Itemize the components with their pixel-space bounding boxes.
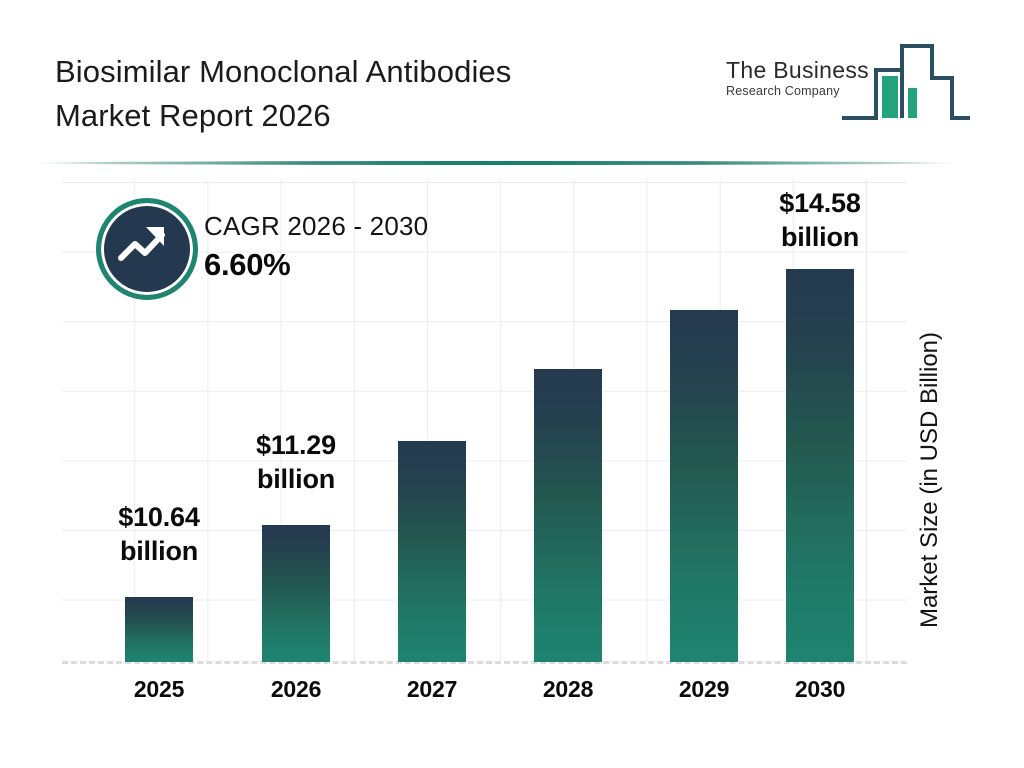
value-label-2026-unit: billion xyxy=(236,462,356,496)
y-axis-title: Market Size (in USD Billion) xyxy=(915,290,945,670)
chart-page: Biosimilar Monoclonal Antibodies Market … xyxy=(0,0,1024,768)
value-label-2030: $14.58 billion xyxy=(760,186,880,254)
x-tick-2030: 2030 xyxy=(760,676,880,703)
x-tick-2028: 2028 xyxy=(508,676,628,703)
value-label-2025: $10.64 billion xyxy=(99,500,219,568)
cagr-label: CAGR 2026 - 2030 xyxy=(204,210,428,242)
bar-2027 xyxy=(398,441,466,662)
bar-2025 xyxy=(125,597,193,662)
trending-up-arrow-icon xyxy=(96,198,198,300)
x-tick-2026: 2026 xyxy=(236,676,356,703)
bar-2026 xyxy=(262,525,330,662)
value-label-2030-unit: billion xyxy=(760,220,880,254)
bar-2030 xyxy=(786,269,854,662)
bar-2028 xyxy=(534,369,602,662)
value-label-2026-amount: $11.29 xyxy=(236,428,356,462)
cagr-value: 6.60% xyxy=(204,245,428,285)
x-tick-2029: 2029 xyxy=(644,676,764,703)
value-label-2026: $11.29 billion xyxy=(236,428,356,496)
bar-2029 xyxy=(670,310,738,662)
value-label-2025-unit: billion xyxy=(99,534,219,568)
y-axis-title-wrap: Market Size (in USD Billion) xyxy=(915,290,945,670)
value-label-2030-amount: $14.58 xyxy=(760,186,880,220)
x-tick-2027: 2027 xyxy=(372,676,492,703)
x-tick-2025: 2025 xyxy=(99,676,219,703)
bar-series xyxy=(0,0,1024,768)
cagr-text-block: CAGR 2026 - 2030 6.60% xyxy=(204,210,428,285)
value-label-2025-amount: $10.64 xyxy=(99,500,219,534)
cagr-badge: CAGR 2026 - 2030 6.60% xyxy=(96,198,516,308)
